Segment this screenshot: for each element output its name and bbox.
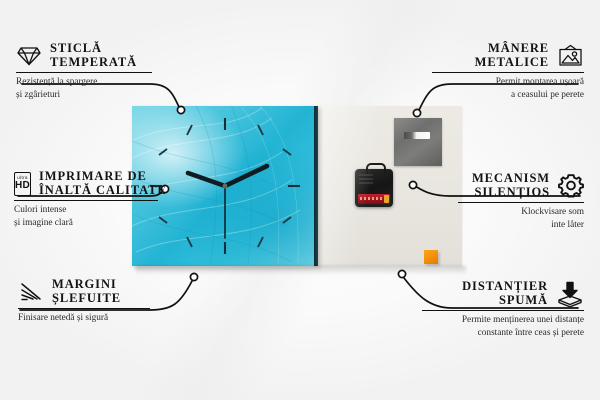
title-line-1: STICLĂ	[50, 42, 137, 56]
feature-title-polished-edges: MARGINI ȘLEFUITE	[52, 278, 121, 305]
down-arrow-block-icon	[556, 281, 584, 307]
title-line-2: ȘLEFUITE	[52, 292, 121, 306]
feature-title-metal-handles: MÂNERE METALICE	[475, 42, 549, 69]
divider	[422, 310, 584, 311]
feature-title-silent-mechanism: MECANISM SILENȚIOS	[472, 172, 550, 199]
feature-tempered-glass: STICLĂ TEMPERATĂ Rezistență la spargere …	[16, 42, 152, 101]
product-image	[132, 106, 462, 272]
title-line-1: MÂNERE	[475, 42, 549, 56]
feature-desc-metal-handles: Permit montarea ușoară a ceasului pe per…	[432, 76, 584, 101]
title-line-2: SPUMĂ	[462, 294, 548, 308]
desc-line-1: Finisare netedă și sigură	[18, 312, 150, 325]
battery-tip	[384, 195, 389, 203]
feature-foam-spacer: DISTANȚIER SPUMĂ Permite menținerea unei…	[422, 280, 584, 339]
mechanism-detail	[359, 174, 373, 184]
feature-desc-polished-edges: Finisare netedă și sigură	[18, 312, 150, 325]
desc-line-1: Rezistență la spargere	[16, 76, 152, 89]
polished-edges-icon	[18, 281, 44, 303]
desc-line-1: Permit montarea ușoară	[432, 76, 584, 89]
ultra-hd-icon: ultra HD	[14, 172, 31, 196]
clock-back-panel	[314, 106, 462, 266]
hd-badge-main: HD	[15, 181, 30, 191]
desc-line-1: Klockvisare som	[458, 206, 584, 219]
feature-polished-edges: MARGINI ȘLEFUITE Finisare netedă și sigu…	[18, 278, 150, 325]
battery-label	[360, 197, 382, 200]
desc-line-1: Culori intense	[14, 204, 158, 217]
feature-metal-handles: MÂNERE METALICE Permit montarea ușoară a…	[432, 42, 584, 101]
foam-spacer-pad	[424, 250, 438, 264]
metal-hanger-plate	[394, 118, 442, 166]
desc-line-2: constante între ceas și perete	[422, 327, 584, 340]
feature-title-hd-print: IMPRIMARE DE ÎNALTĂ CALITATE	[39, 170, 167, 197]
mechanism-hook	[366, 163, 386, 174]
divider	[16, 72, 152, 73]
picture-frame-icon	[557, 44, 584, 68]
desc-line-2: și imagine clară	[14, 217, 158, 230]
divider	[432, 72, 584, 73]
gear-icon	[558, 173, 584, 198]
desc-line-2: și zgârieturi	[16, 89, 152, 102]
divider	[14, 200, 158, 201]
title-line-2: TEMPERATĂ	[50, 56, 137, 70]
title-line-1: MARGINI	[52, 278, 121, 292]
divider	[18, 308, 150, 309]
desc-line-2: inte låter	[458, 219, 584, 232]
title-line-1: IMPRIMARE DE	[39, 170, 167, 184]
battery	[358, 194, 390, 204]
title-line-2: SILENȚIOS	[472, 186, 550, 200]
diamond-icon	[16, 45, 42, 67]
feature-title-tempered-glass: STICLĂ TEMPERATĂ	[50, 42, 137, 69]
hanger-slot	[404, 132, 430, 139]
desc-line-2: a ceasului pe perete	[432, 89, 584, 102]
feature-silent-mechanism: MECANISM SILENȚIOS Klockvisare som inte …	[458, 172, 584, 231]
title-line-2: METALICE	[475, 56, 549, 70]
desc-line-1: Permite menținerea unei distanțe	[422, 314, 584, 327]
feature-desc-hd-print: Culori intense și imagine clară	[14, 204, 158, 229]
title-line-1: MECANISM	[472, 172, 550, 186]
product-drop-shadow	[136, 266, 466, 275]
divider	[458, 202, 584, 203]
feature-desc-foam-spacer: Permite menținerea unei distanțe constan…	[422, 314, 584, 339]
feature-hd-print: ultra HD IMPRIMARE DE ÎNALTĂ CALITATE Cu…	[14, 170, 158, 229]
feature-desc-silent-mechanism: Klockvisare som inte låter	[458, 206, 584, 231]
product-feature-infographic: STICLĂ TEMPERATĂ Rezistență la spargere …	[0, 0, 600, 400]
title-line-1: DISTANȚIER	[462, 280, 548, 294]
feature-desc-tempered-glass: Rezistență la spargere și zgârieturi	[16, 76, 152, 101]
clock-mechanism	[355, 169, 393, 207]
feature-title-foam-spacer: DISTANȚIER SPUMĂ	[462, 280, 548, 307]
title-line-2: ÎNALTĂ CALITATE	[39, 184, 167, 198]
